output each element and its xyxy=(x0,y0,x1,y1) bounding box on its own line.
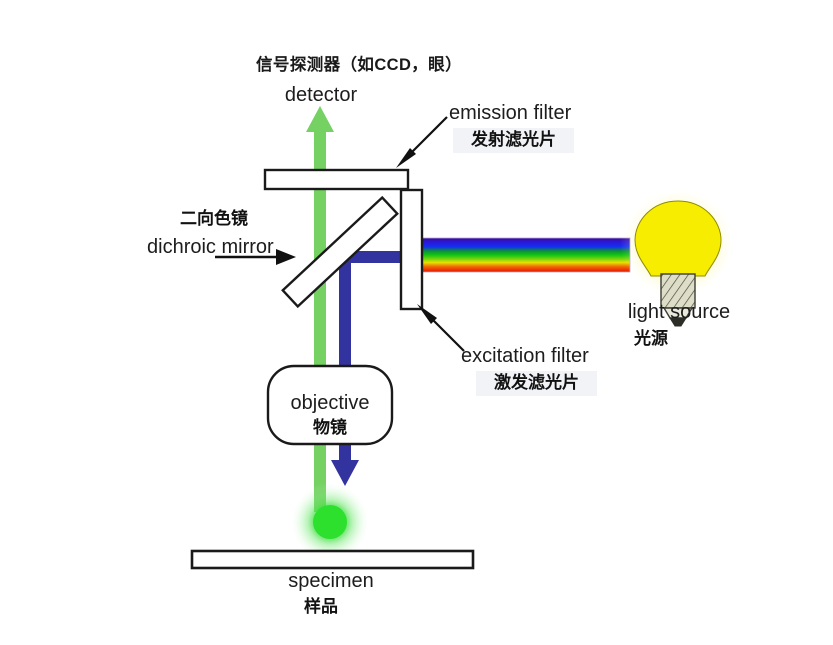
white-light-spectrum-beam xyxy=(414,238,630,272)
excitation-filter-label-en: excitation filter xyxy=(461,345,589,368)
detector-label: detector xyxy=(285,84,357,107)
excitation-filter-label-cn-box: 激发滤光片 xyxy=(476,371,597,396)
pointer-arrow-excitation xyxy=(417,304,464,351)
excitation-filter-label-cn: 激发滤光片 xyxy=(476,371,597,396)
emission-filter-plate xyxy=(265,170,408,189)
light-source-label-cn: 光源 xyxy=(634,329,668,349)
pointer-arrow-emission xyxy=(396,117,447,168)
objective-label-cn: 物镜 xyxy=(313,418,347,438)
dichroic-mirror-label-cn: 二向色镜 xyxy=(180,209,248,229)
objective-label-en: objective xyxy=(291,392,370,415)
specimen-slide xyxy=(192,551,473,568)
dichroic-mirror-label-en: dichroic mirror xyxy=(147,236,274,259)
specimen-label-en: specimen xyxy=(288,570,374,593)
diagram-canvas: 信号探测器（如CCD，眼） detector emission filter 发… xyxy=(0,0,833,645)
light-source-label-en: light source xyxy=(628,301,730,324)
excitation-filter-plate xyxy=(401,190,422,309)
emission-beam-green xyxy=(306,106,334,512)
emission-filter-label-cn-box: 发射滤光片 xyxy=(453,128,574,153)
specimen-label-cn: 样品 xyxy=(304,597,338,617)
detector-title-cn: 信号探测器（如CCD，眼） xyxy=(256,56,462,75)
emission-filter-label-en: emission filter xyxy=(449,102,571,125)
emission-filter-label-cn: 发射滤光片 xyxy=(453,128,574,153)
